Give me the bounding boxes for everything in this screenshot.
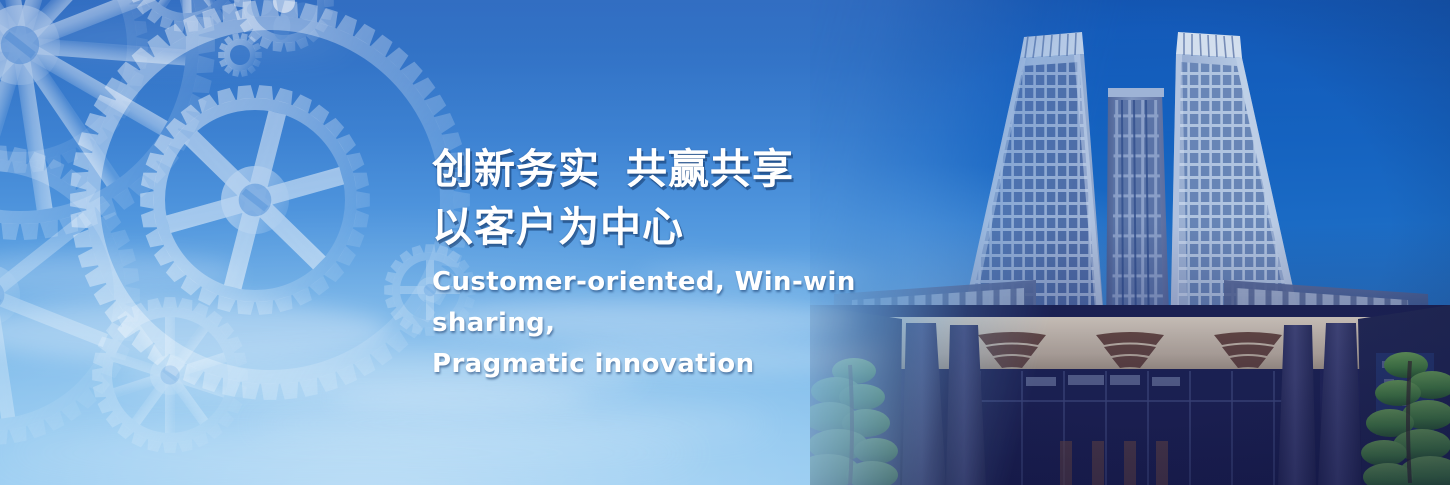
headline-line-1: 创新务实共赢共享 bbox=[432, 140, 972, 198]
subheading: Customer-oriented, Win-win sharing, Prag… bbox=[432, 262, 972, 385]
headline-part-1: 创新务实 bbox=[432, 145, 600, 193]
headline-part-2: 共赢共享 bbox=[626, 145, 794, 193]
banner-copy: 创新务实共赢共享 以客户为中心 Customer-oriented, Win-w… bbox=[432, 140, 972, 385]
hero-banner: 创新务实共赢共享 以客户为中心 Customer-oriented, Win-w… bbox=[0, 0, 1450, 485]
headline-line-2: 以客户为中心 bbox=[432, 198, 972, 256]
